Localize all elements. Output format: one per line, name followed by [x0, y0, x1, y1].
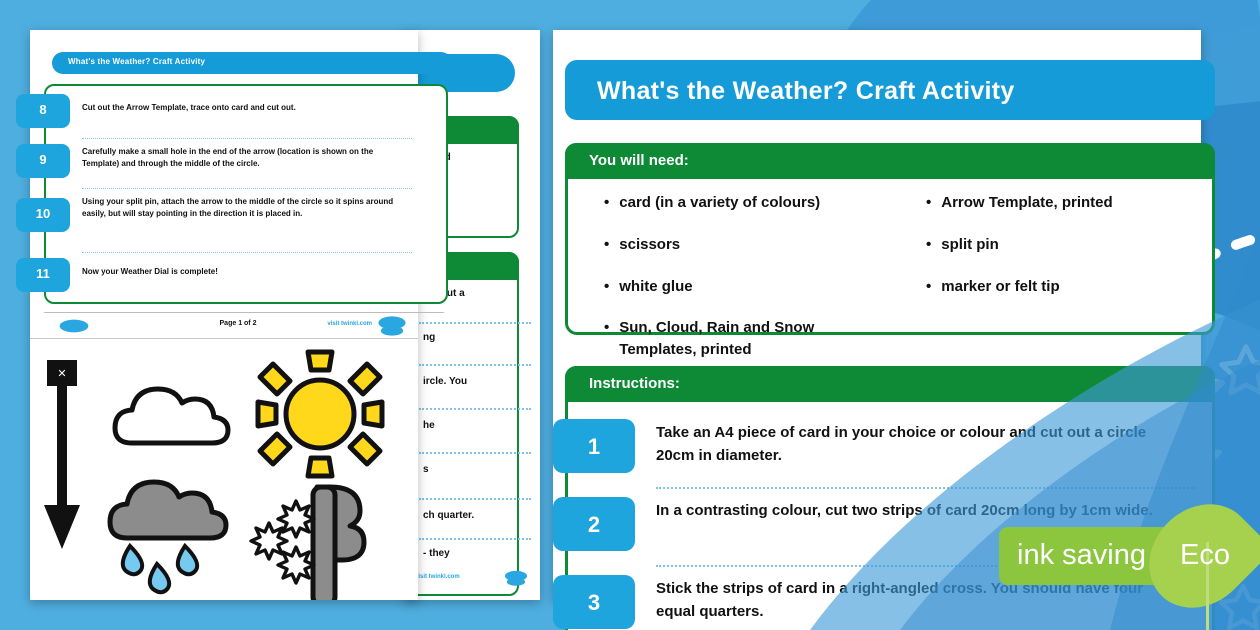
materials-item-label: Sun, Cloud, Rain and Snow Templates, pri…	[619, 317, 819, 361]
materials-item: • Arrow Template, printed	[926, 192, 1212, 214]
instructions-box: Instructions: 1 Take an A4 piece of card…	[565, 366, 1215, 630]
left-page-title: What's the Weather? Craft Activity	[68, 57, 205, 66]
instruction-number-badge: 2	[553, 497, 635, 551]
left-step-number-badge: 8	[16, 94, 70, 128]
middle-separator	[419, 364, 531, 366]
materials-item: • white glue	[604, 276, 890, 298]
bullet-icon: •	[926, 276, 931, 298]
left-step-text: Using your split pin, attach the arrow t…	[82, 196, 412, 220]
left-step-number-badge: 9	[16, 144, 70, 178]
instructions-list: 1 Take an A4 piece of card in your choic…	[568, 415, 1212, 630]
materials-box: You will need: • card (in a variety of c…	[565, 143, 1215, 335]
left-footer-note: visit twinkl.com	[327, 321, 372, 327]
materials-item: • split pin	[926, 234, 1212, 256]
materials-header: You will need:	[565, 143, 1215, 179]
middle-page-footer: visit twinkl.com	[413, 568, 533, 590]
instruction-separator	[656, 487, 1196, 489]
twinkl-logo-icon	[503, 568, 529, 588]
left-step-number-badge: 11	[16, 258, 70, 292]
materials-item-label: card (in a variety of colours)	[619, 192, 820, 214]
svg-text:✕: ✕	[57, 367, 66, 380]
left-step-number-badge: 10	[16, 198, 70, 232]
snowflakes	[251, 501, 314, 583]
bullet-icon: •	[604, 317, 609, 361]
instruction-number-badge: 3	[553, 575, 635, 629]
weather-templates-artwork: ✕	[30, 342, 418, 600]
screenshot-stage: rinted cut out a ng ircle. You he s ch q…	[0, 0, 1260, 630]
instruction-number-badge: 1	[553, 419, 635, 473]
middle-separator	[419, 538, 531, 540]
materials-item: • marker or felt tip	[926, 276, 1212, 298]
raindrops	[123, 546, 197, 592]
middle-footer-note: visit twinkl.com	[415, 574, 460, 580]
right-page-title: What's the Weather? Craft Activity	[597, 77, 1015, 106]
left-step-text: Now your Weather Dial is complete!	[82, 266, 412, 278]
instruction-number: 2	[553, 512, 635, 538]
middle-fragment: he	[423, 420, 435, 431]
middle-separator	[419, 408, 531, 410]
rain-cloud-icon	[110, 482, 226, 592]
materials-item: • card (in a variety of colours)	[604, 192, 890, 214]
eco-badge: ink saving Eco	[999, 527, 1239, 585]
left-step-separator	[82, 138, 412, 139]
arrow-template-icon: ✕	[44, 360, 80, 549]
instruction-row: 1 Take an A4 piece of card in your choic…	[568, 415, 1212, 493]
left-artwork-divider	[30, 338, 418, 339]
bullet-icon: •	[926, 234, 931, 256]
eco-leaf-label: Eco	[1180, 539, 1230, 572]
instruction-number: 1	[553, 434, 635, 460]
instruction-text: In a contrasting colour, cut two strips …	[656, 499, 1176, 522]
sun-icon	[258, 352, 382, 476]
instruction-number: 3	[553, 590, 635, 616]
bullet-icon: •	[926, 192, 931, 214]
middle-fragment: ch quarter.	[423, 510, 474, 521]
materials-item: • Sun, Cloud, Rain and Snow Templates, p…	[604, 317, 819, 361]
materials-heading: You will need:	[589, 152, 689, 169]
materials-column-right: • Arrow Template, printed • split pin • …	[890, 192, 1212, 381]
left-step-text: Cut out the Arrow Template, trace onto c…	[82, 102, 412, 114]
left-step-separator	[82, 188, 412, 189]
middle-fragment: s	[423, 464, 429, 475]
middle-fragment: ng	[423, 332, 435, 343]
left-page-title-bar: What's the Weather? Craft Activity	[52, 52, 452, 74]
materials-column-left: • card (in a variety of colours) • sciss…	[568, 192, 890, 381]
twinkl-logo-icon	[376, 313, 408, 339]
left-step-separator	[82, 252, 412, 253]
materials-item: • scissors	[604, 234, 890, 256]
left-step-number: 9	[16, 152, 70, 167]
instruction-text: Take an A4 piece of card in your choice …	[656, 421, 1176, 468]
middle-fragment: ircle. You	[423, 376, 467, 387]
materials-columns: • card (in a variety of colours) • sciss…	[568, 192, 1212, 381]
eco-label: ink saving	[1017, 539, 1146, 572]
left-step-number: 10	[16, 206, 70, 221]
materials-item-label: white glue	[619, 276, 692, 298]
left-step-number: 8	[16, 102, 70, 117]
left-step-text: Carefully make a small hole in the end o…	[82, 146, 412, 170]
middle-separator	[419, 452, 531, 454]
bullet-icon: •	[604, 192, 609, 214]
right-document-page[interactable]: What's the Weather? Craft Activity You w…	[553, 30, 1201, 600]
middle-fragment: - they	[423, 548, 450, 559]
materials-item-label: scissors	[619, 234, 680, 256]
left-document-page[interactable]: What's the Weather? Craft Activity 8 Cut…	[30, 30, 418, 600]
instructions-heading: Instructions:	[589, 375, 680, 392]
materials-item-label: Arrow Template, printed	[941, 192, 1112, 214]
materials-item-label: split pin	[941, 234, 999, 256]
star-icon	[1215, 340, 1260, 402]
snow-cloud-icon	[251, 487, 364, 600]
left-step-number: 11	[16, 266, 70, 281]
middle-separator	[419, 498, 531, 500]
bullet-icon: •	[604, 234, 609, 256]
instructions-header: Instructions:	[565, 366, 1215, 402]
cloud-icon	[115, 389, 228, 443]
bullet-icon: •	[604, 276, 609, 298]
materials-item-label: marker or felt tip	[941, 276, 1059, 298]
right-page-title-bar: What's the Weather? Craft Activity	[565, 60, 1215, 120]
